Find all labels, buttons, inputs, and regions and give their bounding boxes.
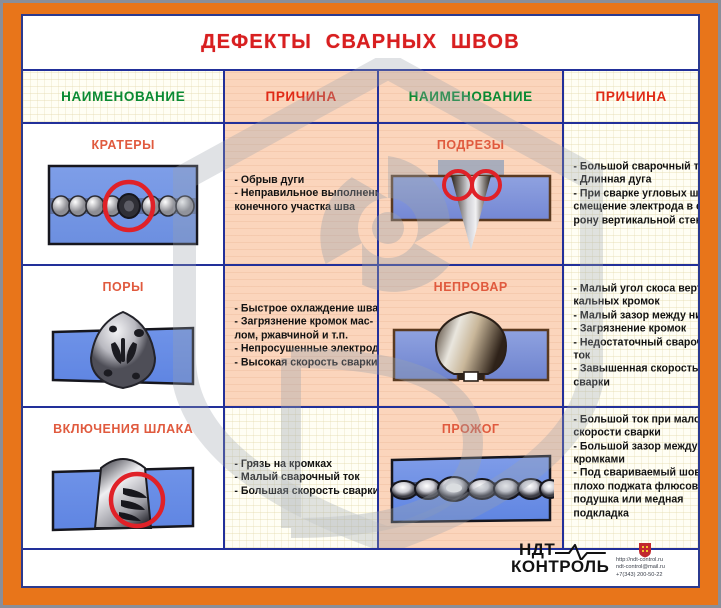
cause-line: лом, ржавчиной и т.п. — [234, 329, 372, 342]
header-label: НАИМЕНОВАНИЕ — [23, 71, 223, 122]
cause-cell-prozhog: - Большой ток при малой скорости сварки … — [564, 408, 698, 548]
cause-list: - Обрыв дуги - Неправильное выполнение к… — [234, 174, 372, 214]
figure-weld-bead-crater — [47, 162, 199, 253]
table-header-row: НАИМЕНОВАНИЕ ПРИЧИНА НАИМЕНОВАНИЕ ПРИЧИН… — [23, 71, 698, 124]
defect-cell-neprovar: НЕПРОВАР — [379, 266, 564, 406]
figure-butt-weld-slag-inclusion — [45, 442, 201, 541]
cause-line: кальных кромок — [573, 296, 693, 309]
page-title: ДЕФЕКТЫ СВАРНЫХ ШВОВ — [201, 31, 520, 54]
ndt-control-logo[interactable]: НДТ КОНТРОЛЬ http://ndt-control.ru ndt-c… — [511, 540, 690, 584]
logo-text: НДТ КОНТРОЛЬ — [511, 540, 609, 584]
defect-name: ПОРЫ — [23, 280, 223, 294]
title-bar: ДЕФЕКТЫ СВАРНЫХ ШВОВ — [23, 16, 698, 69]
logo-line-2: КОНТРОЛЬ — [511, 557, 609, 577]
defect-name: НЕПРОВАР — [379, 280, 562, 294]
header-cell-cause-2: ПРИЧИНА — [564, 71, 698, 122]
cause-line: - Загрязнение кромок мас- — [234, 316, 372, 329]
defect-cell-pory: ПОРЫ — [23, 266, 225, 406]
cause-line: - Большая скорость сварки — [234, 485, 372, 498]
shield-badge-icon — [638, 542, 652, 558]
defect-name: ВКЛЮЧЕНИЯ ШЛАКА — [23, 422, 223, 436]
cause-line: - Непросушенные электроды — [234, 343, 372, 356]
cause-line: - Недостаточный сварочный — [573, 336, 693, 349]
cause-line: - Малый сварочный ток — [234, 471, 372, 484]
cause-line: - Неправильное выполнение — [234, 187, 372, 200]
cause-list: - Малый угол скоса верти- кальных кромок… — [573, 282, 693, 389]
cause-cell-pory: - Быстрое охлаждение шва - Загрязнение к… — [225, 266, 379, 406]
defect-cell-kratery: КРАТЕРЫ — [23, 124, 225, 264]
cause-cell-vklyucheniya-shlaka: - Грязь на кромках - Малый сварочный ток… — [225, 408, 379, 548]
cause-line: конечного участка шва — [234, 201, 372, 214]
cause-line: - Быстрое охлаждение шва — [234, 302, 372, 315]
defect-cell-prozhog: ПРОЖОГ — [379, 408, 564, 548]
poster-canvas: ДЕФЕКТЫ СВАРНЫХ ШВОВ — [21, 14, 700, 588]
cause-line: - Малый угол скоса верти- — [573, 282, 693, 295]
cause-cell-kratery: - Обрыв дуги - Неправильное выполнение к… — [225, 124, 379, 264]
cause-line: - Высокая скорость сварки — [234, 356, 372, 369]
defect-name: КРАТЕРЫ — [23, 138, 223, 152]
poster-root: ДЕФЕКТЫ СВАРНЫХ ШВОВ — [0, 0, 721, 608]
cause-line: - Большой зазор между — [573, 440, 693, 453]
header-label: ПРИЧИНА — [564, 71, 698, 122]
cause-line: - Обрыв дуги — [234, 174, 372, 187]
cause-line: - Длинная дуга — [573, 174, 693, 187]
contact-email[interactable]: ndt-control@mail.ru — [616, 564, 690, 571]
cause-list: - Грязь на кромках - Малый сварочный ток… — [234, 458, 372, 498]
defect-cell-vklyucheniya-shlaka: ВКЛЮЧЕНИЯ ШЛАКА — [23, 408, 225, 548]
header-label: НАИМЕНОВАНИЕ — [379, 71, 562, 122]
cause-line: подкладка — [573, 507, 693, 520]
defects-table: НАИМЕНОВАНИЕ ПРИЧИНА НАИМЕНОВАНИЕ ПРИЧИН… — [23, 69, 698, 586]
cause-line: ток — [573, 349, 693, 362]
table-row: ПОРЫ — [23, 266, 698, 408]
cause-line: скорости сварки — [573, 427, 693, 440]
cause-line: рону вертикальной стенки — [573, 214, 693, 227]
header-cell-cause-1: ПРИЧИНА — [225, 71, 379, 122]
table-row: ВКЛЮЧЕНИЯ ШЛАКА — [23, 408, 698, 550]
cause-line: - Большой сварочный ток — [573, 160, 693, 173]
cause-list: - Большой сварочный ток - Длинная дуга -… — [573, 160, 693, 227]
defect-cell-podrezy: ПОДРЕЗЫ — [379, 124, 564, 264]
defect-name: ПОДРЕЗЫ — [379, 138, 562, 152]
waveform-icon — [555, 542, 607, 560]
cause-line: подушка или медная — [573, 494, 693, 507]
table-row: КРАТЕРЫ — [23, 124, 698, 266]
figure-weld-bead-burnthrough — [388, 452, 554, 531]
header-label: ПРИЧИНА — [225, 71, 377, 122]
figure-butt-weld-porosity — [47, 296, 199, 401]
cause-line: плохо поджата флюсовая — [573, 480, 693, 493]
cause-line: - Загрязнение кромок — [573, 323, 693, 336]
cause-list: - Большой ток при малой скорости сварки … — [573, 413, 693, 520]
cause-cell-podrezy: - Большой сварочный ток - Длинная дуга -… — [564, 124, 698, 264]
cause-line: - При сварке угловых швов - — [573, 187, 693, 200]
contact-url[interactable]: http://ndt-control.ru — [616, 557, 690, 564]
cause-line: - Под свариваемый шов — [573, 467, 693, 480]
cause-line: - Грязь на кромках — [234, 458, 372, 471]
cause-cell-neprovar: - Малый угол скоса верти- кальных кромок… — [564, 266, 698, 406]
cause-line: сварки — [573, 376, 693, 389]
defect-name: ПРОЖОГ — [379, 422, 562, 436]
cause-line: - Большой ток при малой — [573, 413, 693, 426]
cause-line: - Завышенная скорость — [573, 363, 693, 376]
contact-block: http://ndt-control.ru ndt-control@mail.r… — [616, 542, 690, 584]
cause-list: - Быстрое охлаждение шва - Загрязнение к… — [234, 302, 372, 369]
figure-butt-weld-lack-of-fusion — [388, 302, 554, 399]
cause-line: - Малый зазор между ними — [573, 309, 693, 322]
header-cell-name-1: НАИМЕНОВАНИЕ — [23, 71, 225, 122]
cause-line: смещение электрода в сто- — [573, 201, 693, 214]
cause-line: кромками — [573, 453, 693, 466]
contact-phone[interactable]: +7(343) 200-50-22 — [616, 572, 690, 579]
header-cell-name-2: НАИМЕНОВАНИЕ — [379, 71, 564, 122]
figure-fillet-weld-undercut — [388, 158, 554, 263]
